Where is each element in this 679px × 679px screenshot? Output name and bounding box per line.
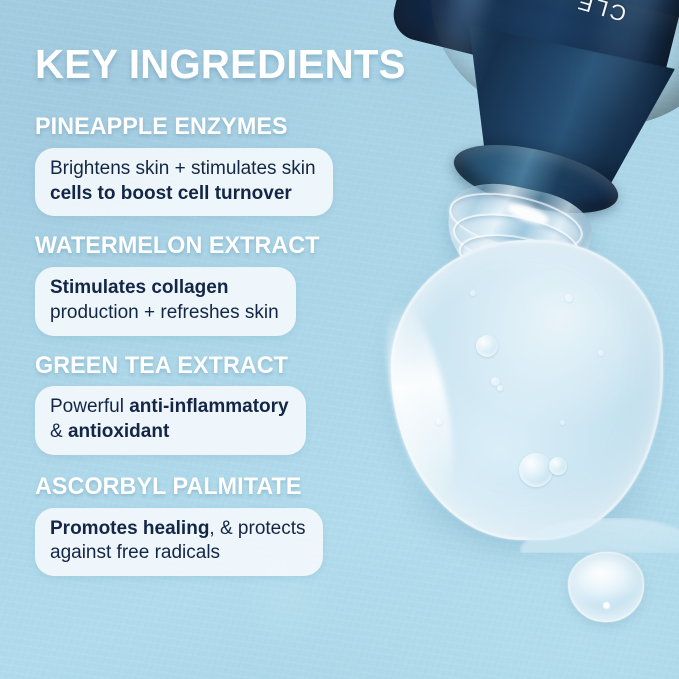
ingredient-description: Stimulates collagen production + refresh… xyxy=(35,267,296,335)
desc-line-2-bold: antioxidant xyxy=(68,421,169,442)
desc-line-1: Stimulates collagen xyxy=(50,277,228,298)
ingredient-name: ASCORBYL PALMITATE xyxy=(35,474,404,501)
ingredient-description: Promotes healing, & protects against fre… xyxy=(35,508,323,576)
ingredient-name: GREEN TEA EXTRACT xyxy=(35,353,404,380)
ingredient-block-green-tea-extract: GREEN TEA EXTRACT Powerful anti-inflamma… xyxy=(35,353,415,455)
bubble xyxy=(476,335,498,357)
desc-line-2: against free radicals xyxy=(50,542,220,563)
ingredient-name: PINEAPPLE ENZYMES xyxy=(35,114,404,141)
page-title: KEY INGREDIENTS xyxy=(35,44,407,85)
ingredient-description: Powerful anti-inflammatory & antioxidant xyxy=(35,386,306,454)
serum-droplet-small-rim xyxy=(568,552,644,622)
bubble xyxy=(470,290,476,296)
desc-line-1-regular: Powerful xyxy=(50,396,129,417)
ingredient-block-pineapple-enzymes: PINEAPPLE ENZYMES Brightens skin + stimu… xyxy=(35,114,415,216)
desc-line-1: Brightens skin + stimulates skin xyxy=(50,158,316,179)
ingredient-block-ascorbyl-palmitate: ASCORBYL PALMITATE Promotes healing, & p… xyxy=(35,474,415,576)
desc-line-2: production + refreshes skin xyxy=(50,302,279,323)
desc-line-2: cells to boost cell turnover xyxy=(50,183,292,204)
bubble xyxy=(549,457,567,475)
ingredient-name: WATERMELON EXTRACT xyxy=(35,233,404,260)
bubble xyxy=(598,350,604,356)
bubble xyxy=(436,418,443,425)
desc-line-2-regular: & xyxy=(50,421,68,442)
ingredient-description: Brightens skin + stimulates skin cells t… xyxy=(35,148,333,216)
serum-droplet-small-highlight xyxy=(603,602,610,609)
ingredients-list: KEY INGREDIENTS PINEAPPLE ENZYMES Bright… xyxy=(35,44,415,576)
desc-line-1-bold: anti-inflammatory xyxy=(129,396,288,417)
bubble xyxy=(565,294,573,302)
desc-line-1-bold: Promotes healing xyxy=(50,518,209,539)
ingredient-block-watermelon-extract: WATERMELON EXTRACT Stimulates collagen p… xyxy=(35,233,415,335)
bubble xyxy=(519,453,553,487)
bubble xyxy=(560,420,565,425)
desc-line-1-regular: , & protects xyxy=(209,518,305,539)
bubble xyxy=(497,385,503,391)
ingredient-infographic: CLE KEY INGREDIENTS PINEAPPLE ENZYMES B xyxy=(0,0,679,679)
